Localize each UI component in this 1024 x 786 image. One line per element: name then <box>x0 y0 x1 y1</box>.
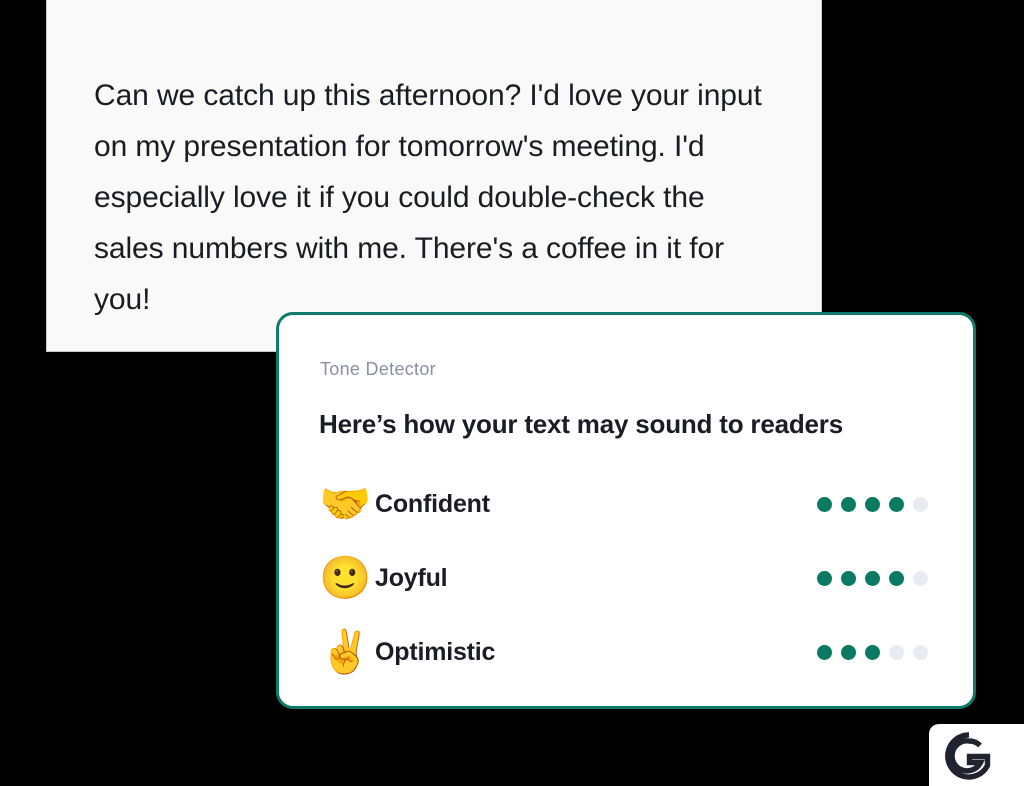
handshake-emoji: 🤝 <box>319 483 375 525</box>
strength-dot-filled <box>865 645 880 660</box>
strength-dot-filled <box>841 571 856 586</box>
tone-strength-meter <box>817 645 928 660</box>
strength-dot-filled <box>817 571 832 586</box>
tone-row[interactable]: 🤝Confident <box>319 467 934 541</box>
source-text-card: Can we catch up this afternoon? I'd love… <box>46 0 822 352</box>
tone-label: Joyful <box>375 564 817 593</box>
strength-dot-filled <box>817 497 832 512</box>
strength-dot-filled <box>865 497 880 512</box>
tone-detector-headline: Here’s how your text may sound to reader… <box>319 409 843 440</box>
tone-label: Confident <box>375 490 817 519</box>
strength-dot-empty <box>913 645 928 660</box>
tone-label: Optimistic <box>375 638 817 667</box>
tone-strength-meter <box>817 497 928 512</box>
slightly-smiling-face-emoji: 🙂 <box>319 557 375 599</box>
tone-detector-card: Tone Detector Here’s how your text may s… <box>276 312 976 709</box>
strength-dot-filled <box>889 571 904 586</box>
tone-row[interactable]: 🙂Joyful <box>319 541 934 615</box>
tone-strength-meter <box>817 571 928 586</box>
tone-row[interactable]: ✌️Optimistic <box>319 615 934 689</box>
strength-dot-filled <box>889 497 904 512</box>
strength-dot-filled <box>865 571 880 586</box>
source-text: Can we catch up this afternoon? I'd love… <box>94 70 774 325</box>
victory-hand-emoji: ✌️ <box>319 631 375 673</box>
strength-dot-empty <box>913 497 928 512</box>
tone-list: 🤝Confident🙂Joyful✌️Optimistic <box>319 467 934 689</box>
grammarly-logo-badge <box>929 724 1024 786</box>
strength-dot-filled <box>841 645 856 660</box>
tone-detector-label: Tone Detector <box>320 359 436 380</box>
strength-dot-empty <box>889 645 904 660</box>
strength-dot-filled <box>817 645 832 660</box>
strength-dot-empty <box>913 571 928 586</box>
grammarly-g-icon <box>943 730 995 782</box>
strength-dot-filled <box>841 497 856 512</box>
